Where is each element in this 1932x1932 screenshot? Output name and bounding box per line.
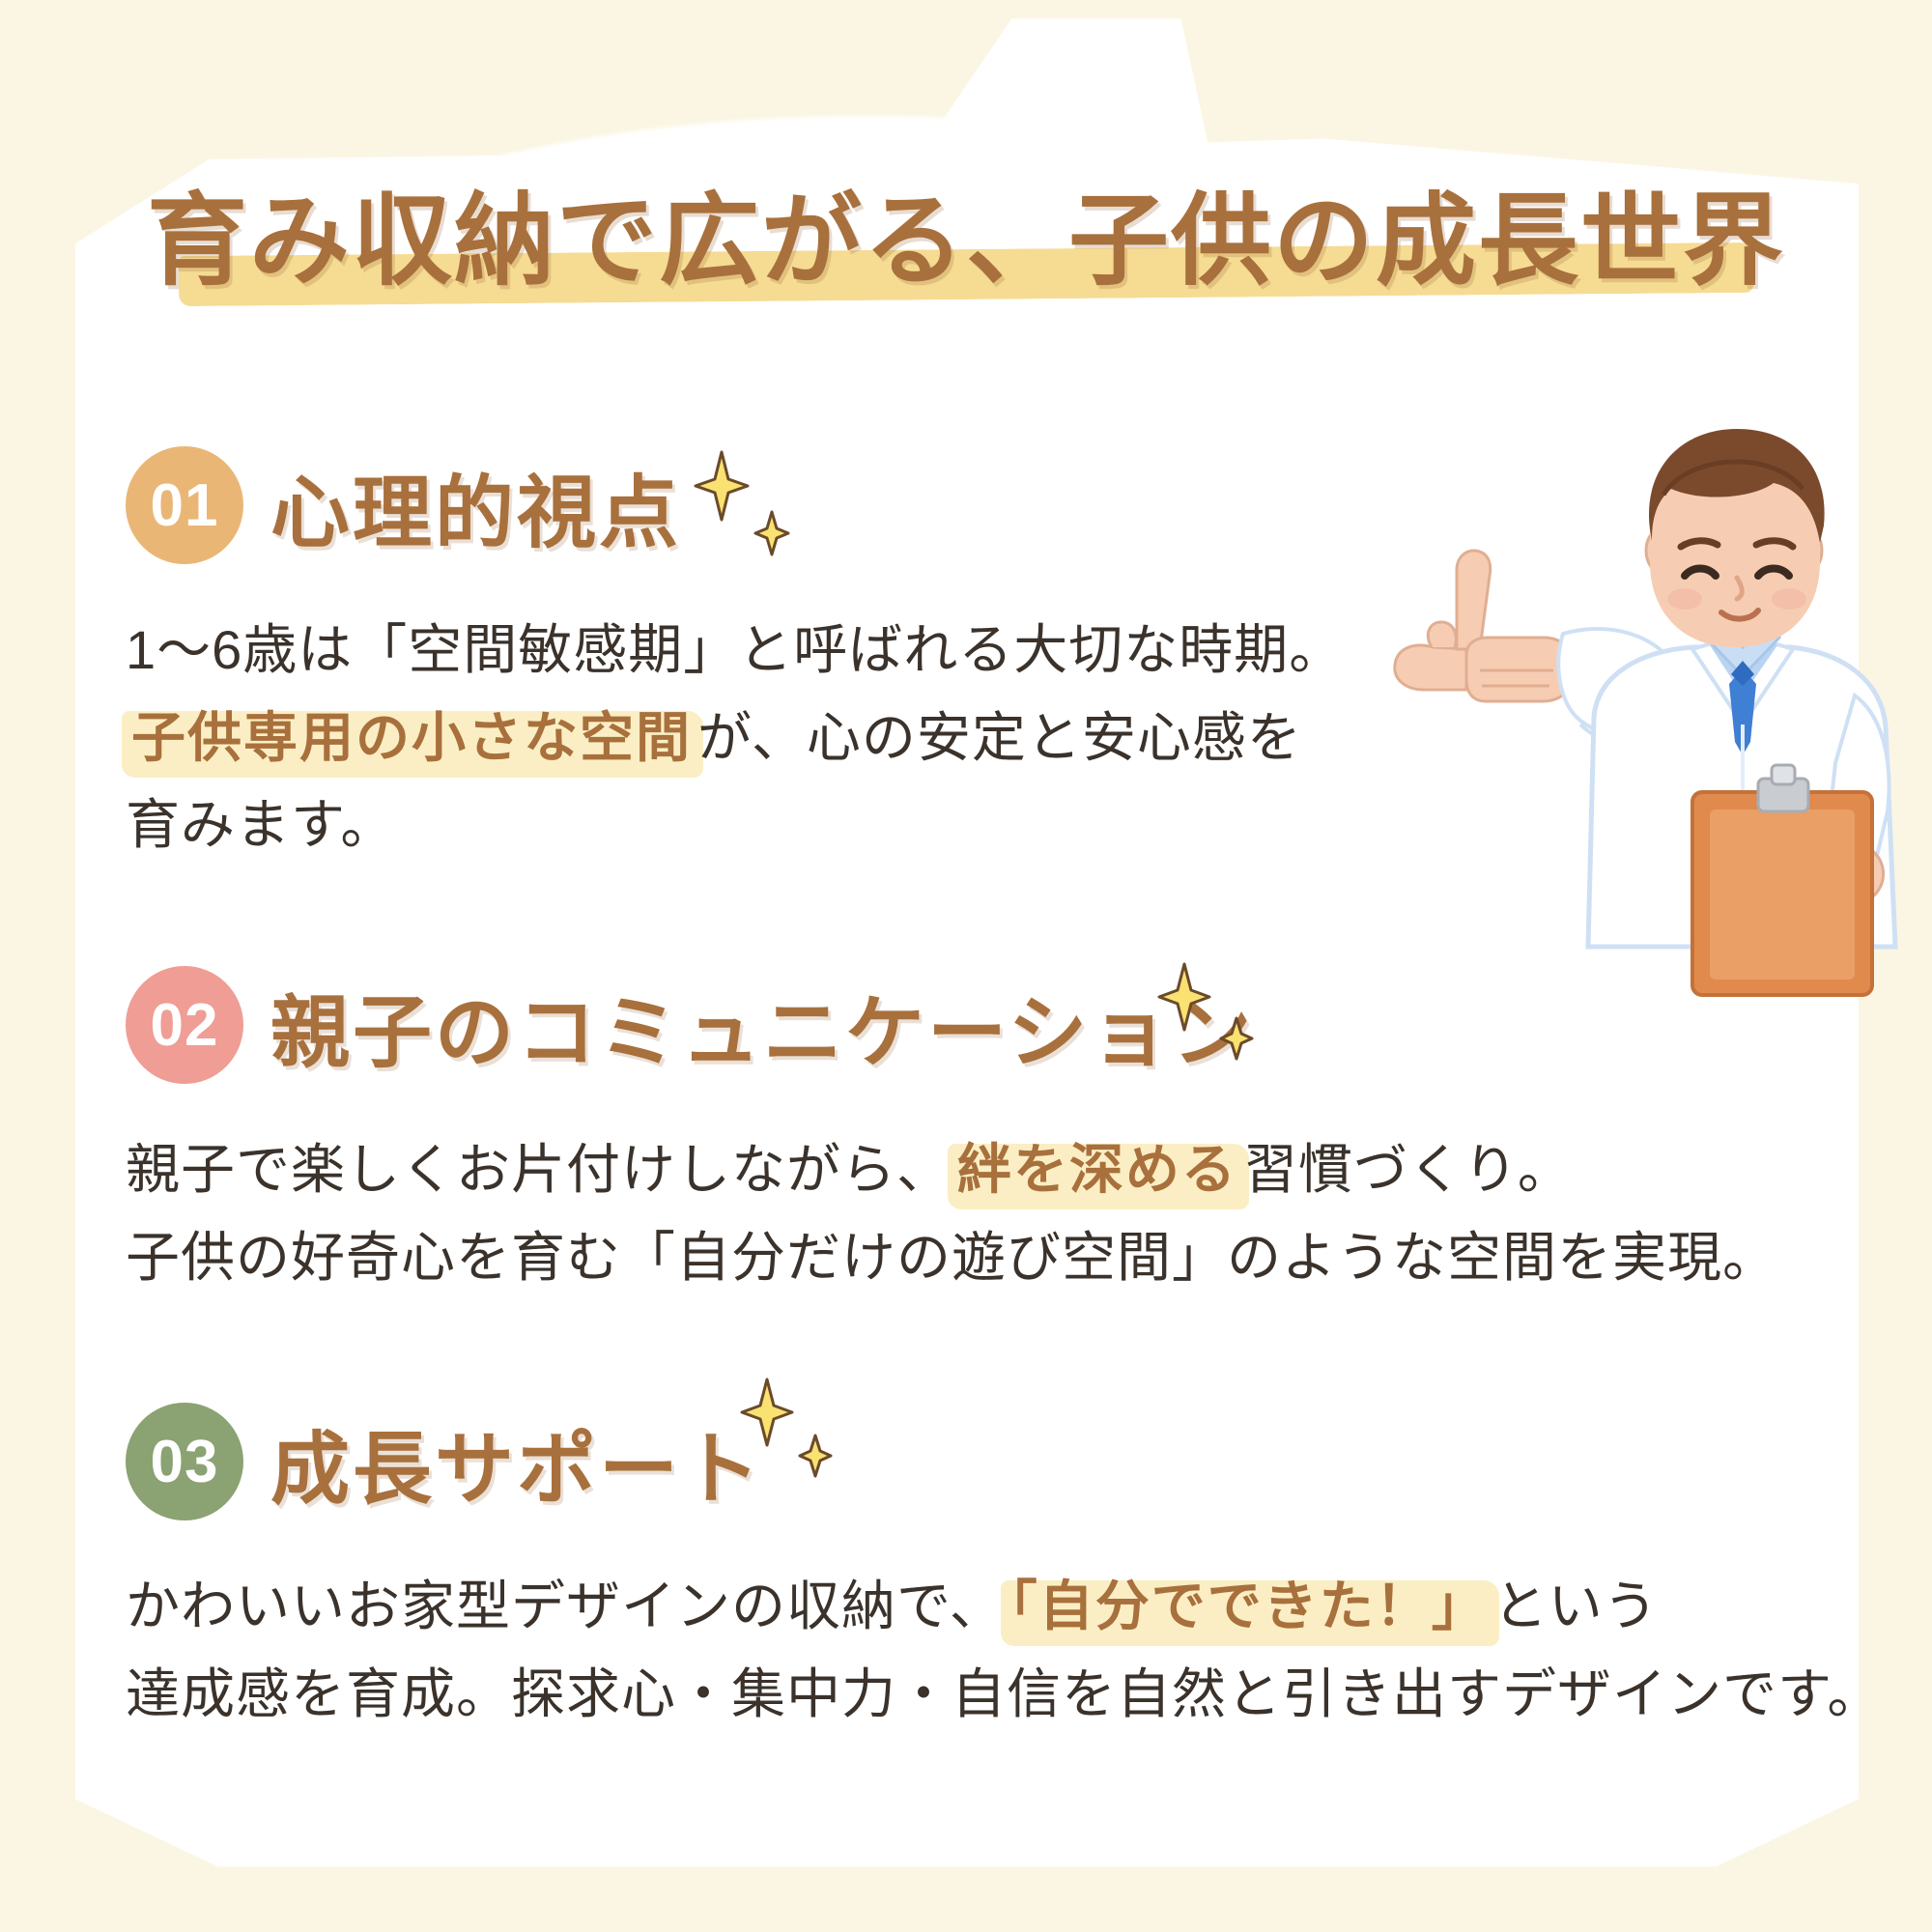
- highlighted-phrase: 子供専用の小さな空間: [126, 705, 697, 770]
- section-03: 03 成長サポート かわいいお家型デザインの収納で、「自分でできた！」という 達…: [126, 1403, 1882, 1738]
- section-02-heading: 親子のコミュニケーション: [270, 968, 1254, 1083]
- doctor-head: [1646, 429, 1825, 647]
- text-run: 達成感を育成。探求心・集中力・自信を自然と引き出すデザインです。: [126, 1663, 1882, 1724]
- section-01-number-badge: 01: [126, 446, 243, 564]
- section-01-body: 1〜6歳は「空間敏感期」と呼ばれる大切な時期。 子供専用の小さな空間が、心の安定…: [126, 607, 1344, 869]
- page-title: 育み収納で広がる、子供の成長世界: [147, 189, 1785, 295]
- sparkle-large-2-icon: [1157, 962, 1211, 1032]
- section-02-line-2: 子供の好奇心を育む「自分だけの遊び空間」のような空間を実現。: [126, 1214, 1777, 1302]
- section-01-heading: 心理的視点: [270, 448, 681, 563]
- doctor-illustration: [1374, 406, 1915, 1005]
- highlighted-phrase: 絆を深める: [952, 1137, 1243, 1202]
- text-run: 親子で楽しくお片付けしながら、: [126, 1139, 952, 1200]
- sparkle-small-3-icon: [798, 1434, 833, 1478]
- section-01-line-3: 育みます。: [126, 781, 1344, 869]
- section-01-line-2: 子供専用の小さな空間が、心の安定と安心感を: [126, 695, 1344, 782]
- text-run: が、心の安定と安心感を: [697, 707, 1302, 768]
- text-run: 育みます。: [126, 794, 395, 855]
- text-run: かわいいお家型デザインの収納で、: [126, 1576, 1005, 1636]
- section-03-line-1: かわいいお家型デザインの収納で、「自分でできた！」という: [126, 1563, 1882, 1651]
- text-run: 子供の好奇心を育む「自分だけの遊び空間」のような空間を実現。: [126, 1227, 1777, 1288]
- section-01-line-1: 1〜6歳は「空間敏感期」と呼ばれる大切な時期。: [126, 607, 1344, 695]
- clipboard: [1692, 765, 1872, 995]
- section-03-header: 03 成長サポート: [126, 1403, 1882, 1520]
- sparkle-large-3-icon: [740, 1378, 794, 1447]
- text-run: 1〜6歳は「空間敏感期」と呼ばれる大切な時期。: [126, 619, 1344, 680]
- section-03-heading: 成長サポート: [270, 1405, 763, 1520]
- section-02-number-badge: 02: [126, 966, 243, 1084]
- highlighted-phrase: 「自分でできた！」: [1005, 1574, 1493, 1638]
- section-02-body: 親子で楽しくお片付けしながら、絆を深める習慣づくり。 子供の好奇心を育む「自分だ…: [126, 1126, 1777, 1301]
- text-run: 習慣づくり。: [1243, 1139, 1573, 1200]
- sparkle-small-2-icon: [1219, 1016, 1254, 1061]
- page-title-wrapper: 育み収納で広がる、子供の成長世界: [0, 189, 1932, 295]
- section-02: 02 親子のコミュニケーション 親子で楽しくお片付けしながら、絆を深める習慣づく…: [126, 966, 1777, 1301]
- sparkle-large-1-icon: [694, 450, 750, 522]
- section-02-line-1: 親子で楽しくお片付けしながら、絆を深める習慣づくり。: [126, 1126, 1777, 1214]
- section-03-line-2: 達成感を育成。探求心・集中力・自信を自然と引き出すデザインです。: [126, 1651, 1882, 1739]
- text-run: という: [1493, 1576, 1659, 1636]
- sparkle-small-1-icon: [753, 510, 790, 556]
- section-03-body: かわいいお家型デザインの収納で、「自分でできた！」という 達成感を育成。探求心・…: [126, 1563, 1882, 1738]
- section-03-number-badge: 03: [126, 1403, 243, 1520]
